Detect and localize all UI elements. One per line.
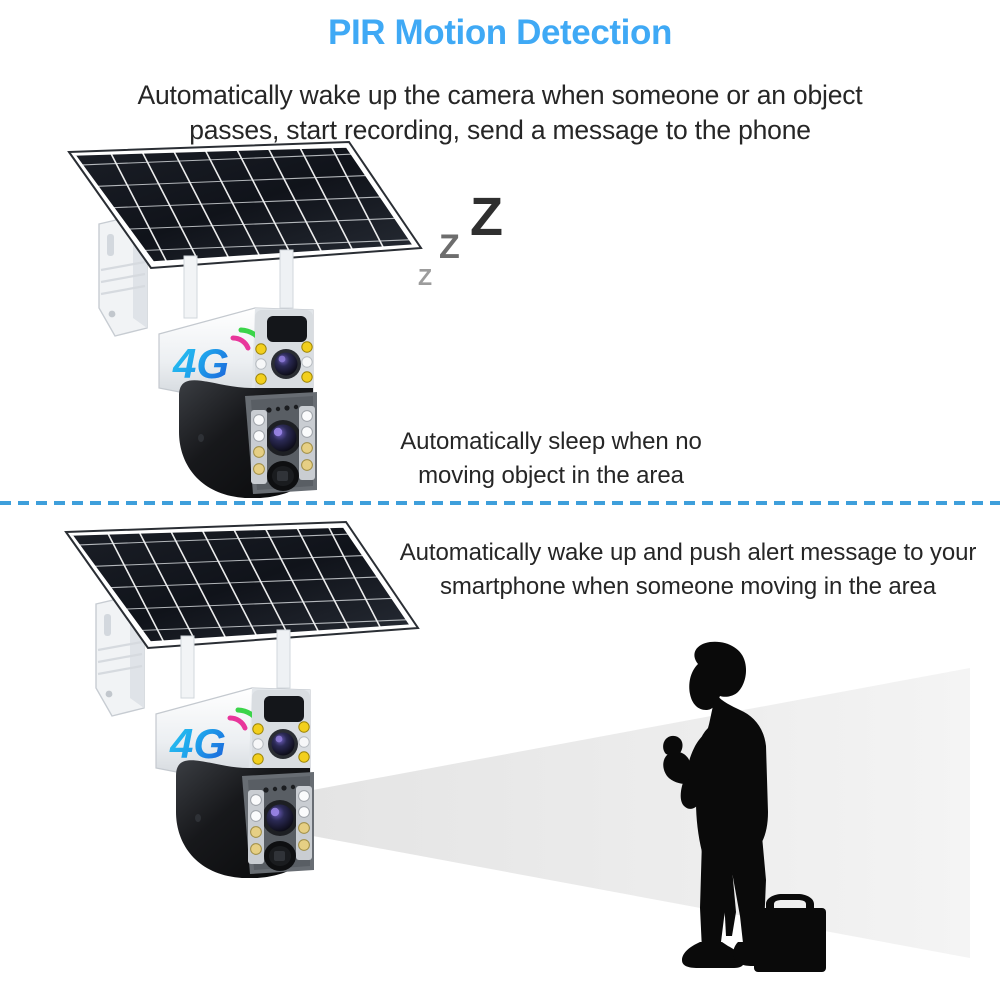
dome-face-plate xyxy=(242,772,314,874)
solar-camera-illustration: 4G xyxy=(52,518,452,878)
page-title: PIR Motion Detection xyxy=(0,14,1000,53)
camera-ptz-dome xyxy=(179,380,317,498)
upper-lens-panel xyxy=(252,690,310,774)
camera-rig-alert-mode: 4G xyxy=(52,518,452,878)
camera-ptz-dome xyxy=(176,760,314,878)
man-with-phone-and-briefcase xyxy=(663,642,826,972)
infographic-page: PIR Motion Detection Automatically wake … xyxy=(0,0,1000,1000)
sleep-mark-large: Z xyxy=(470,186,503,248)
svg-text:4G: 4G xyxy=(169,720,226,767)
svg-text:4G: 4G xyxy=(172,340,229,387)
dome-face-plate xyxy=(245,392,317,494)
sleep-mode-caption: Automatically sleep when no moving objec… xyxy=(386,425,716,492)
alert-mode-caption: Automatically wake up and push alert mes… xyxy=(372,536,1000,604)
section-divider xyxy=(0,501,1000,505)
person-silhouette xyxy=(640,636,850,972)
upper-lens-panel xyxy=(255,310,313,394)
sleep-mark-small: Z xyxy=(418,264,432,291)
sleep-mark-medium: Z xyxy=(439,228,460,267)
